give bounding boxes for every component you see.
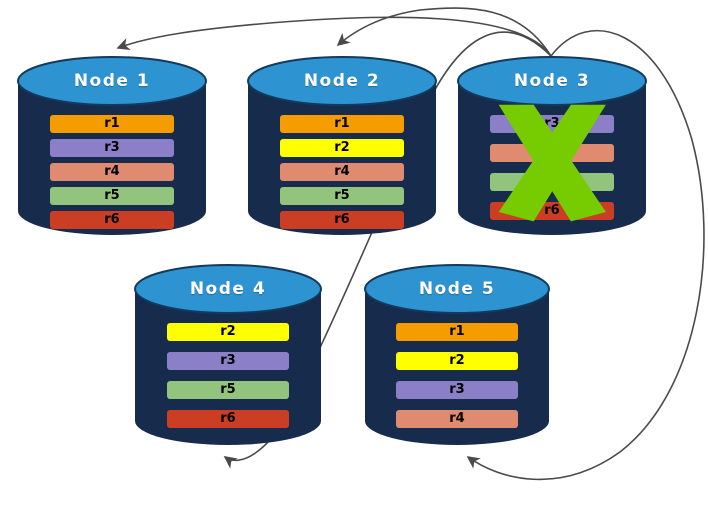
node-5-replica-r2[interactable]: r2: [396, 352, 517, 370]
node-5-top-disc: [365, 265, 549, 313]
node-2-replica-r1[interactable]: r1: [280, 115, 404, 133]
node-4-replica-list: r2r3r5r6: [135, 323, 321, 428]
node-3-top-disc: [458, 57, 646, 105]
node-3-replica-r3[interactable]: r3: [490, 115, 614, 133]
node-1-replica-list: r1r3r4r5r6: [18, 115, 206, 229]
node-3-replica-r5[interactable]: r5: [490, 173, 614, 191]
node-1-top-disc: [18, 57, 206, 105]
node-5-replica-r4[interactable]: r4: [396, 410, 517, 428]
node-3-replica-r4[interactable]: r4: [490, 144, 614, 162]
node-5-replica-list: r1r2r3r4: [365, 323, 549, 428]
node-1[interactable]: Node 1r1r3r4r5r6: [18, 57, 206, 235]
node-4-replica-r3[interactable]: r3: [167, 352, 290, 370]
node-5-replica-r3[interactable]: r3: [396, 381, 517, 399]
node-4-replica-r2[interactable]: r2: [167, 323, 290, 341]
node-2-replica-r6[interactable]: r6: [280, 211, 404, 229]
node-5[interactable]: Node 5r1r2r3r4: [365, 265, 549, 445]
node-2-replica-r5[interactable]: r5: [280, 187, 404, 205]
node-2-replica-r4[interactable]: r4: [280, 163, 404, 181]
node-1-replica-r3[interactable]: r3: [50, 139, 174, 157]
node-2-replica-list: r1r2r4r5r6: [248, 115, 436, 229]
node-4-top-disc: [135, 265, 321, 313]
node-2[interactable]: Node 2r1r2r4r5r6: [248, 57, 436, 235]
node-4-replica-r5[interactable]: r5: [167, 381, 290, 399]
node-4[interactable]: Node 4r2r3r5r6: [135, 265, 321, 445]
node-2-top-disc: [248, 57, 436, 105]
node-3[interactable]: Node 3r3r4r5r6: [458, 57, 646, 235]
node-1-replica-r5[interactable]: r5: [50, 187, 174, 205]
node-3-replica-list: r3r4r5r6: [458, 115, 646, 220]
node-1-replica-r1[interactable]: r1: [50, 115, 174, 133]
arrow-node3-to-node1: [118, 17, 551, 56]
node-5-replica-r1[interactable]: r1: [396, 323, 517, 341]
node-3-replica-r6[interactable]: r6: [490, 202, 614, 220]
node-1-replica-r4[interactable]: r4: [50, 163, 174, 181]
node-2-replica-r2[interactable]: r2: [280, 139, 404, 157]
node-1-replica-r6[interactable]: r6: [50, 211, 174, 229]
node-4-replica-r6[interactable]: r6: [167, 410, 290, 428]
arrow-node3-to-node2: [338, 8, 551, 56]
